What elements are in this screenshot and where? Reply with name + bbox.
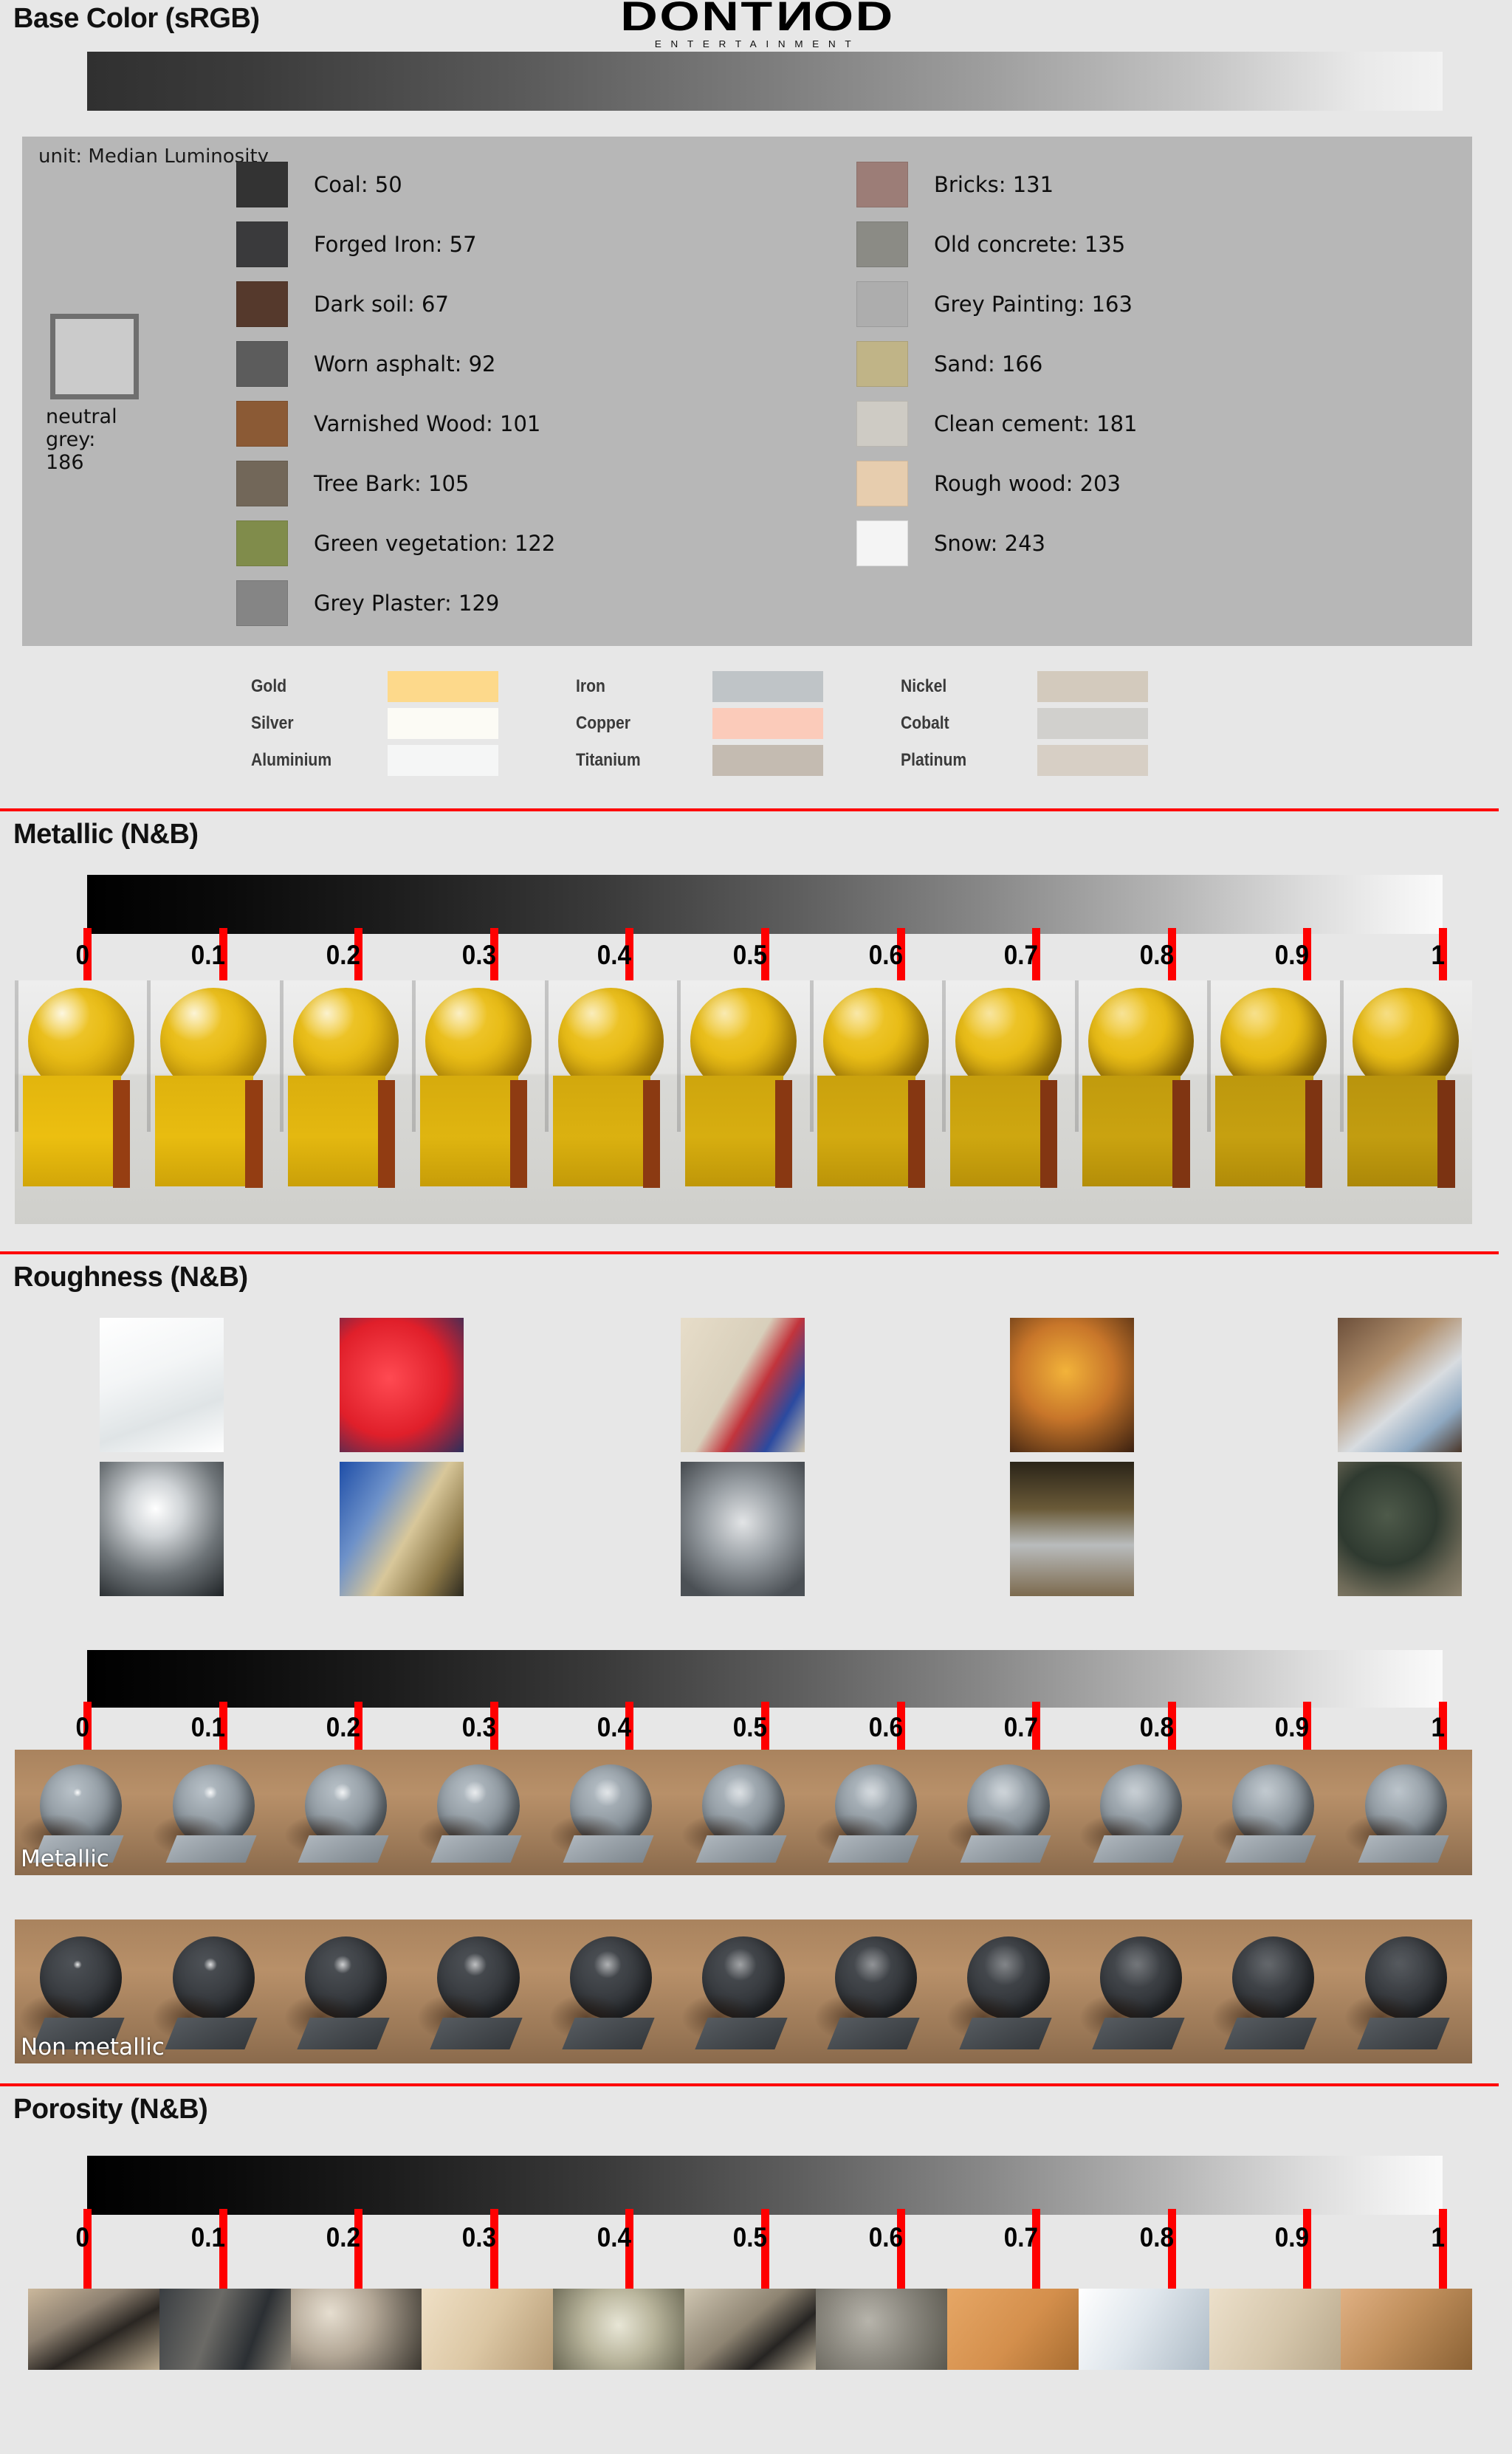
scale-tick-label: 0.1 — [190, 2222, 224, 2253]
scale-tick-label: 0.6 — [868, 940, 902, 971]
scale-tick-label: 0.7 — [1004, 2222, 1038, 2253]
metallic-sample — [942, 980, 1074, 1224]
porosity-section: Porosity (N&B) — [0, 2083, 1499, 2125]
logo-flipped-n: N — [774, 0, 814, 37]
metallic-cube — [23, 1076, 121, 1186]
roughness-nonmetallic-sample — [412, 1919, 544, 2063]
metal-row: GoldIronNickel — [251, 668, 1226, 705]
neutral-grey-swatch — [50, 314, 139, 399]
color-swatch — [236, 221, 288, 267]
color-swatch — [236, 580, 288, 626]
sample-plate — [430, 1835, 521, 1863]
snow-surface-photo — [1079, 2289, 1210, 2370]
base-color-row: Bricks: 131 — [856, 154, 1138, 214]
roughness-metallic-sample — [412, 1750, 544, 1875]
metal-cell: Cobalt — [901, 708, 1226, 739]
base-color-label: Clean cement: 181 — [934, 411, 1138, 436]
sample-plate — [695, 2018, 787, 2049]
base-color-list-left: Coal: 50Forged Iron: 57Dark soil: 67Worn… — [236, 154, 555, 633]
metals-table: GoldIronNickelSilverCopperCobaltAluminiu… — [251, 668, 1226, 779]
base-color-label: Grey Plaster: 129 — [314, 591, 499, 616]
metallic-cube-side — [245, 1080, 262, 1188]
base-color-label: Green vegetation: 122 — [314, 531, 555, 556]
roughness-metallic-sample — [677, 1750, 809, 1875]
color-swatch — [236, 461, 288, 506]
logo-wordmark: DONTNOD — [583, 0, 933, 37]
scale-tick-label: 0.2 — [326, 2222, 360, 2253]
scale-tick-label: 0.9 — [1275, 2222, 1309, 2253]
base-color-row: Old concrete: 135 — [856, 214, 1138, 274]
scale-tick-label: 0.5 — [733, 2222, 767, 2253]
base-color-label: Old concrete: 135 — [934, 232, 1125, 257]
base-color-row: Varnished Wood: 101 — [236, 393, 555, 453]
base-color-label: Coal: 50 — [314, 172, 402, 197]
metallic-cube-side — [378, 1080, 395, 1188]
perforated-steel-drum-photo — [681, 1462, 805, 1596]
color-swatch — [236, 401, 288, 447]
dry-cracked-mud-photo — [684, 2289, 816, 2370]
scale-tick-label: 0.4 — [597, 1712, 631, 1743]
color-swatch — [856, 341, 908, 387]
scale-tick-label: 0 — [75, 940, 89, 971]
metallic-cube-side — [1437, 1080, 1454, 1188]
base-color-label: Tree Bark: 105 — [314, 471, 469, 496]
metal-label: Gold — [251, 676, 371, 697]
porosity-scale: 00.10.20.30.40.50.60.70.80.91 — [0, 2156, 1512, 2289]
base-color-label: Bricks: 131 — [934, 172, 1054, 197]
metal-swatch — [1037, 671, 1148, 702]
wall-seam — [677, 980, 681, 1132]
gravel-pebbles-photo — [816, 2289, 947, 2370]
neutral-grey-text: neutral grey: — [46, 405, 117, 451]
neutral-grey-value: 186 — [46, 451, 84, 474]
orange-sandstone-photo — [947, 2289, 1079, 2370]
metal-label: Iron — [576, 676, 696, 697]
section-title-roughness: Roughness (N&B) — [0, 1254, 1499, 1293]
roughness-metallic-sample — [1207, 1750, 1339, 1875]
color-swatch — [856, 162, 908, 207]
sample-plate — [828, 1835, 918, 1863]
scale-tick-label: 0 — [75, 2222, 89, 2253]
metallic-sample — [1340, 980, 1472, 1224]
color-swatch — [856, 461, 908, 506]
metallic-cube — [553, 1076, 651, 1186]
scale-tick-label: 0.2 — [326, 1712, 360, 1743]
pale-sand-dune-photo — [1209, 2289, 1341, 2370]
scale-tick-label: 1 — [1431, 940, 1445, 971]
metallic-sample — [545, 980, 677, 1224]
metal-swatch — [388, 708, 498, 739]
glass-tumbler-photo — [100, 1318, 224, 1452]
metallic-cube — [1082, 1076, 1181, 1186]
scale-tick-label: 0.8 — [1140, 2222, 1174, 2253]
logo-part1: DONT — [620, 0, 774, 39]
neutral-grey-label: neutral grey: 186 — [46, 405, 171, 474]
sample-plate — [165, 2018, 257, 2049]
base-color-label: Dark soil: 67 — [314, 292, 449, 317]
metal-cell: Silver — [251, 708, 576, 739]
metallic-cube-side — [1040, 1080, 1057, 1188]
scale-tick-label: 0.5 — [733, 940, 767, 971]
roughness-metallic-sample — [1075, 1750, 1207, 1875]
metallic-sample — [1075, 980, 1207, 1224]
roughness-metallic-sample — [280, 1750, 412, 1875]
metallic-render-strip — [15, 980, 1472, 1224]
roughness-section: Roughness (N&B) — [0, 1251, 1499, 1293]
metallic-cube-side — [1305, 1080, 1322, 1188]
wall-seam — [15, 980, 18, 1132]
roughness-nonmetallic-sample — [147, 1919, 279, 2063]
metal-label: Cobalt — [901, 713, 1021, 734]
sample-plate — [1357, 2018, 1449, 2049]
roughness-nonmetallic-sample — [810, 1919, 942, 2063]
roughness-nonmetallic-sample — [1207, 1919, 1339, 2063]
color-swatch — [236, 341, 288, 387]
color-swatch — [236, 162, 288, 207]
roughness-nonmetallic-sample — [280, 1919, 412, 2063]
metallic-cube-side — [510, 1080, 527, 1188]
metallic-sample — [280, 980, 412, 1224]
metal-label: Aluminium — [251, 750, 371, 771]
metal-label: Copper — [576, 713, 696, 734]
porosity-gradient-bar — [87, 2156, 1443, 2215]
base-color-label: Worn asphalt: 92 — [314, 351, 496, 377]
granite-speckle-photo — [291, 2289, 422, 2370]
color-swatch — [856, 401, 908, 447]
metallic-cube-side — [775, 1080, 792, 1188]
metal-swatch — [388, 671, 498, 702]
brushed-metal-cone-photo — [340, 1462, 464, 1596]
sample-plate — [1358, 1835, 1449, 1863]
roughness-metallic-sample — [1340, 1750, 1472, 1875]
metallic-cube — [155, 1076, 253, 1186]
red-gift-bow-photo — [340, 1318, 464, 1452]
wooden-crate-photo — [1341, 2289, 1472, 2370]
metal-cell: Aluminium — [251, 745, 576, 776]
base-color-row: Worn asphalt: 92 — [236, 334, 555, 393]
base-color-row: Green vegetation: 122 — [236, 513, 555, 573]
metallic-cube — [1215, 1076, 1313, 1186]
porosity-render-strip — [28, 2289, 1472, 2370]
base-color-row: Snow: 243 — [856, 513, 1138, 573]
scale-tick-label: 0.3 — [462, 940, 496, 971]
metallic-cube — [288, 1076, 386, 1186]
color-swatch — [236, 281, 288, 327]
scale-tick-label: 0.5 — [733, 1712, 767, 1743]
sample-plate — [960, 2018, 1052, 2049]
scale-tick-label: 0.1 — [190, 940, 224, 971]
scale-tick-label: 0.7 — [1004, 1712, 1038, 1743]
cracked-rock-photo — [28, 2289, 159, 2370]
base-color-label: Varnished Wood: 101 — [314, 411, 540, 436]
sample-plate — [298, 2018, 390, 2049]
metal-swatch — [712, 745, 823, 776]
wall-seam — [942, 980, 946, 1132]
base-color-label: Snow: 243 — [934, 531, 1045, 556]
base-color-gradient-bar — [87, 52, 1443, 111]
base-color-row: Sand: 166 — [856, 334, 1138, 393]
metallic-cube — [685, 1076, 783, 1186]
roughness-nonmetallic-sample — [1075, 1919, 1207, 2063]
scale-tick-label: 0.7 — [1004, 940, 1038, 971]
chrome-sphere-photo — [100, 1462, 224, 1596]
roughness-metallic-row: Metallic — [15, 1750, 1472, 1875]
section-title-porosity: Porosity (N&B) — [0, 2086, 1499, 2125]
wall-seam — [810, 980, 814, 1132]
sandstone-block-photo — [422, 2289, 553, 2370]
metal-swatch — [712, 671, 823, 702]
logo-part2: OD — [814, 0, 895, 39]
metal-swatch — [388, 745, 498, 776]
metal-label: Nickel — [901, 676, 1021, 697]
scale-tick-label: 0.3 — [462, 2222, 496, 2253]
base-color-row: Forged Iron: 57 — [236, 214, 555, 274]
wall-seam — [280, 980, 283, 1132]
roughness-nonmetallic-label: Non metallic — [21, 2034, 165, 2061]
metallic-cube — [817, 1076, 915, 1186]
metallic-cube — [1347, 1076, 1446, 1186]
color-swatch — [856, 520, 908, 566]
sample-plate — [695, 1835, 786, 1863]
base-color-row: Tree Bark: 105 — [236, 453, 555, 513]
color-swatch — [236, 520, 288, 566]
scale-tick-label: 0.3 — [462, 1712, 496, 1743]
metal-swatch — [1037, 708, 1148, 739]
metal-label: Titanium — [576, 750, 696, 771]
metal-cell: Gold — [251, 671, 576, 702]
scale-tick-label: 1 — [1431, 2222, 1445, 2253]
base-color-row: Grey Plaster: 129 — [236, 573, 555, 633]
metal-swatch — [712, 708, 823, 739]
base-color-row: Coal: 50 — [236, 154, 555, 214]
metallic-cube-side — [908, 1080, 925, 1188]
wall-seam — [412, 980, 416, 1132]
scale-tick-label: 1 — [1431, 1712, 1445, 1743]
scale-tick-label: 0.9 — [1275, 940, 1309, 971]
roughness-nonmetallic-sample — [545, 1919, 677, 2063]
scale-tick-label: 0 — [75, 1712, 89, 1743]
roughness-nonmetallic-sample — [677, 1919, 809, 2063]
sample-plate — [827, 2018, 919, 2049]
metal-row: SilverCopperCobalt — [251, 705, 1226, 742]
sample-plate — [298, 1835, 389, 1863]
sample-plate — [1225, 2018, 1317, 2049]
wall-seam — [147, 980, 151, 1132]
scale-tick-label: 0.4 — [597, 940, 631, 971]
scale-tick-label: 0.9 — [1275, 1712, 1309, 1743]
base-color-label: Rough wood: 203 — [934, 471, 1121, 496]
metal-swatch — [1037, 745, 1148, 776]
color-swatch — [856, 221, 908, 267]
metallic-sample — [15, 980, 147, 1224]
sample-plate — [430, 2018, 522, 2049]
metallic-cube — [950, 1076, 1048, 1186]
dark-slate-stack-photo — [159, 2289, 291, 2370]
scale-tick-label: 0.8 — [1140, 940, 1174, 971]
sample-plate — [1092, 2018, 1184, 2049]
base-color-row: Clean cement: 181 — [856, 393, 1138, 453]
wet-clay-pottery-photo — [553, 2289, 684, 2370]
roughness-nonmetallic-sample — [942, 1919, 1074, 2063]
roughness-metallic-sample — [810, 1750, 942, 1875]
base-color-row: Rough wood: 203 — [856, 453, 1138, 513]
scale-tick-label: 0.6 — [868, 1712, 902, 1743]
metallic-gradient-bar — [87, 875, 1443, 934]
rusted-metal-bucket-photo — [1010, 1462, 1134, 1596]
metal-label: Silver — [251, 713, 371, 734]
scale-tick-label: 0.6 — [868, 2222, 902, 2253]
metal-cell: Platinum — [901, 745, 1226, 776]
sample-plate — [961, 1835, 1051, 1863]
base-color-label: Forged Iron: 57 — [314, 232, 477, 257]
base-color-row: Dark soil: 67 — [236, 274, 555, 334]
roughness-metallic-label: Metallic — [21, 1846, 109, 1872]
metallic-sample — [677, 980, 809, 1224]
metallic-cube — [420, 1076, 518, 1186]
metallic-section: Metallic (N&B) — [0, 808, 1499, 850]
wall-seam — [1340, 980, 1344, 1132]
metal-cell: Iron — [576, 671, 901, 702]
sample-plate — [562, 2018, 654, 2049]
base-color-panel: unit: Median Luminosity neutral grey: 18… — [22, 137, 1472, 646]
logo-subtitle: ENTERTAINMENT — [611, 38, 905, 49]
amber-bottle-photo — [1010, 1318, 1134, 1452]
wall-seam — [1075, 980, 1079, 1132]
roughness-metallic-sample — [942, 1750, 1074, 1875]
roughness-nonmetallic-sample — [1340, 1919, 1472, 2063]
metal-cell: Titanium — [576, 745, 901, 776]
wall-seam — [1207, 980, 1211, 1132]
base-color-label: Grey Painting: 163 — [934, 292, 1133, 317]
unit-label: unit: Median Luminosity — [38, 145, 269, 168]
metallic-cube-side — [643, 1080, 660, 1188]
wall-seam — [545, 980, 549, 1132]
metallic-cube-side — [113, 1080, 130, 1188]
scale-tick-label: 0.1 — [190, 1712, 224, 1743]
base-color-row: Grey Painting: 163 — [856, 274, 1138, 334]
roughness-gradient-bar — [87, 1650, 1443, 1708]
scale-tick-label: 0.4 — [597, 2222, 631, 2253]
plastic-phone-case-photo — [1338, 1318, 1462, 1452]
metallic-cube-side — [1172, 1080, 1189, 1188]
sample-plate — [1093, 1835, 1183, 1863]
metallic-sample — [412, 980, 544, 1224]
roughness-nonmetallic-row: Non metallic — [15, 1919, 1472, 2063]
roughness-metallic-sample — [545, 1750, 677, 1875]
metal-cell: Nickel — [901, 671, 1226, 702]
metallic-sample — [147, 980, 279, 1224]
roughness-metallic-sample — [147, 1750, 279, 1875]
sample-plate — [563, 1835, 654, 1863]
pens-on-notebook-photo — [681, 1318, 805, 1452]
sample-plate — [1226, 1835, 1316, 1863]
color-swatch — [856, 281, 908, 327]
scale-tick-label: 0.2 — [326, 940, 360, 971]
metal-cell: Copper — [576, 708, 901, 739]
metallic-sample — [1207, 980, 1339, 1224]
base-color-label: Sand: 166 — [934, 351, 1042, 377]
metallic-sample — [810, 980, 942, 1224]
base-color-list-right: Bricks: 131Old concrete: 135Grey Paintin… — [856, 154, 1138, 573]
metal-label: Platinum — [901, 750, 1021, 771]
old-coins-photo — [1338, 1462, 1462, 1596]
sample-plate — [165, 1835, 256, 1863]
section-title-metallic: Metallic (N&B) — [0, 811, 1499, 850]
scale-tick-label: 0.8 — [1140, 1712, 1174, 1743]
dontnod-logo: DONTNOD ENTERTAINMENT — [617, 0, 898, 49]
metal-row: AluminiumTitaniumPlatinum — [251, 742, 1226, 779]
